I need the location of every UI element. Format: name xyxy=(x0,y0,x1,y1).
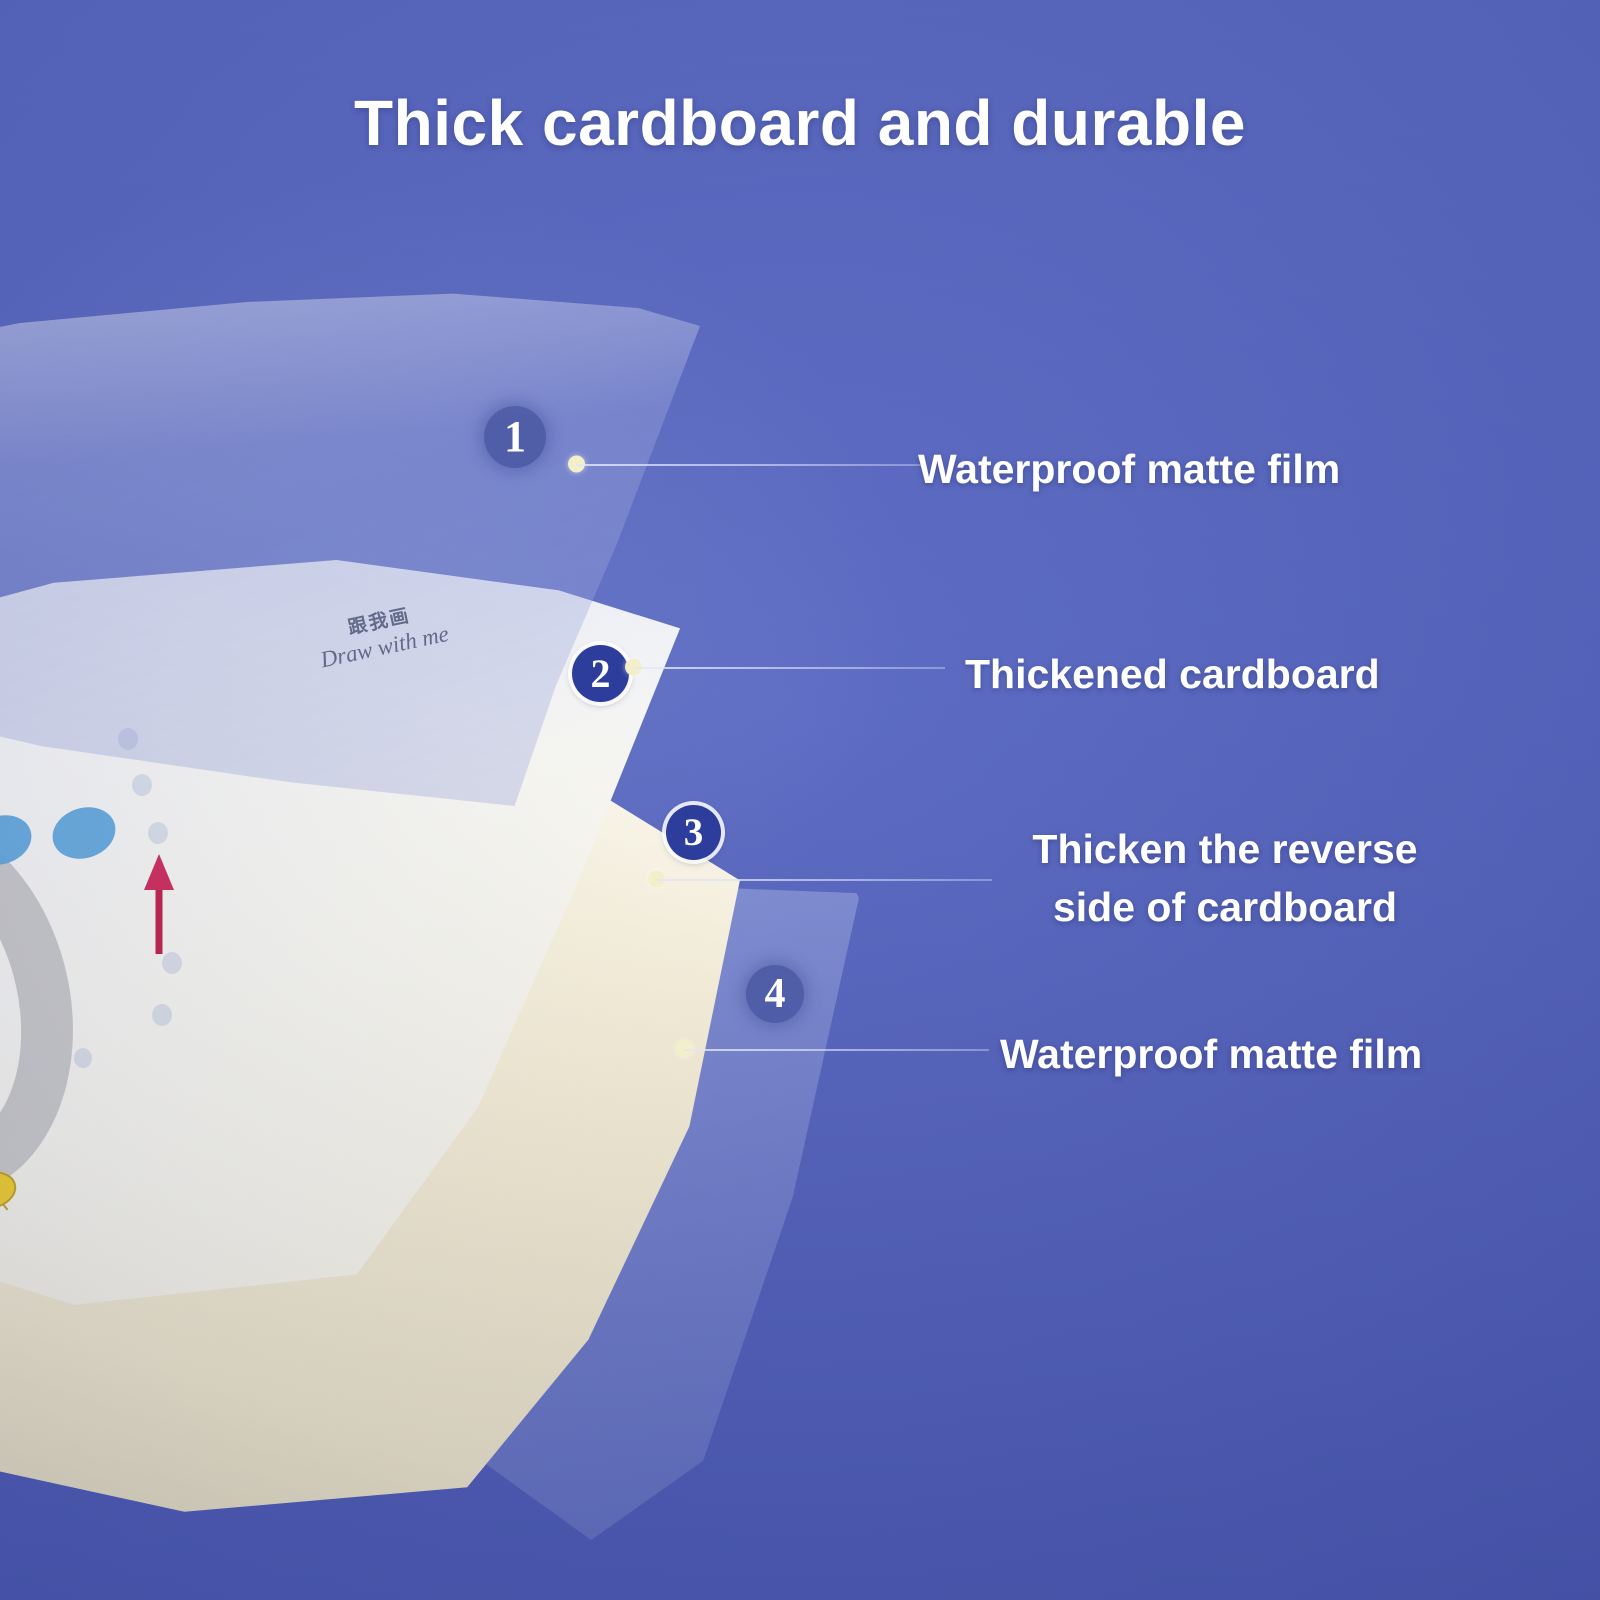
callout-label-3: Thicken the reverse side of cardboard xyxy=(1000,820,1450,936)
leader-line-4 xyxy=(684,1049,989,1051)
callout-leader-4 xyxy=(676,1040,994,1058)
callout-label-4: Waterproof matte film xyxy=(1000,1025,1422,1083)
leader-line-3 xyxy=(656,879,992,881)
leader-line-2 xyxy=(633,667,945,669)
page-title: Thick cardboard and durable xyxy=(0,86,1600,160)
callout-label-3-line-1: Thicken the reverse xyxy=(1000,820,1450,878)
callout-label-2: Thickened cardboard xyxy=(965,645,1380,703)
callout-marker-2[interactable]: 2 xyxy=(572,645,629,702)
callout-leader-1 xyxy=(568,455,928,473)
callout-marker-2-number: 2 xyxy=(591,654,611,694)
callout-leader-2 xyxy=(625,658,950,676)
callout-marker-4[interactable]: 4 xyxy=(746,965,804,1023)
callout-leader-3 xyxy=(648,870,998,888)
callout-label-1: Waterproof matte film xyxy=(918,440,1340,498)
callout-marker-1[interactable]: 1 xyxy=(484,406,546,468)
callout-marker-3-number: 3 xyxy=(684,813,704,852)
product-illustration: 跟我画 Draw with me xyxy=(0,0,1000,1600)
callout-marker-1-number: 1 xyxy=(504,415,526,459)
leader-line-1 xyxy=(576,464,921,466)
callout-marker-4-number: 4 xyxy=(765,973,786,1015)
callout-label-3-line-2: side of cardboard xyxy=(1000,878,1450,936)
callout-marker-3[interactable]: 3 xyxy=(666,805,721,860)
